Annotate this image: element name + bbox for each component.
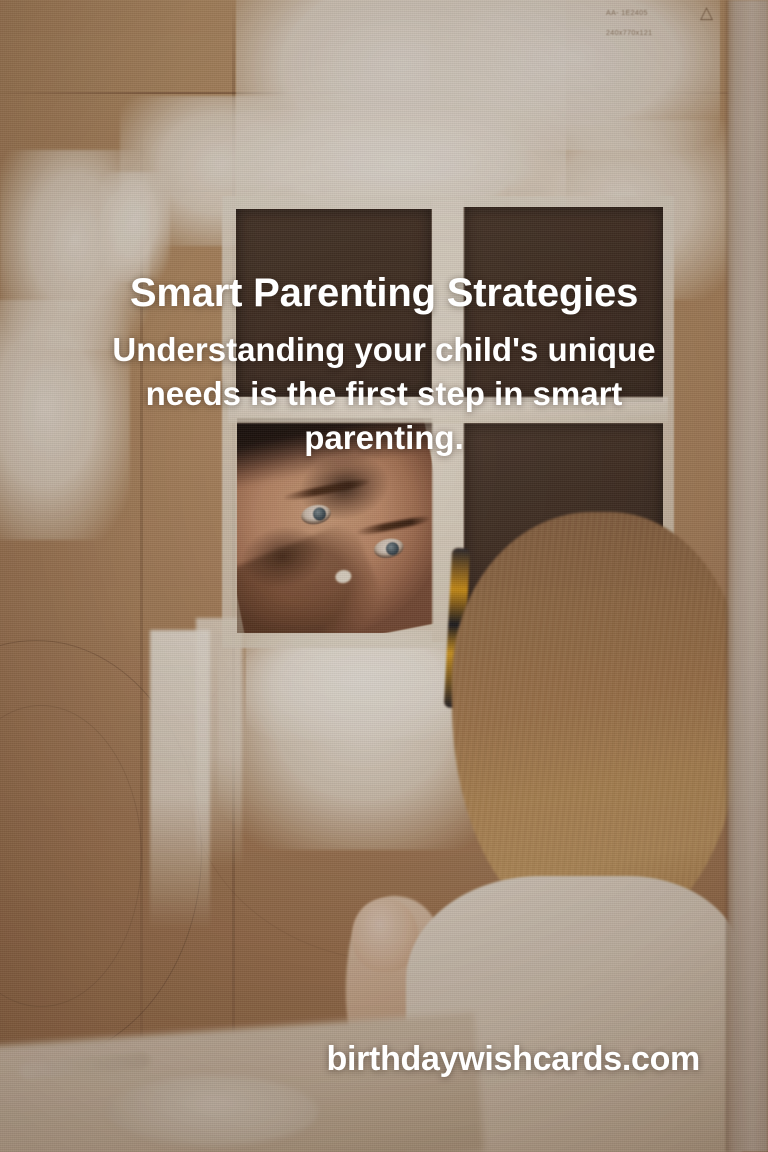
social-media-card: AA- 1E2405 240x770x121 △ Smart Parenting… xyxy=(0,0,768,1152)
site-url-watermark: birthdaywishcards.com xyxy=(0,1040,768,1079)
photo-grain xyxy=(0,0,768,1152)
